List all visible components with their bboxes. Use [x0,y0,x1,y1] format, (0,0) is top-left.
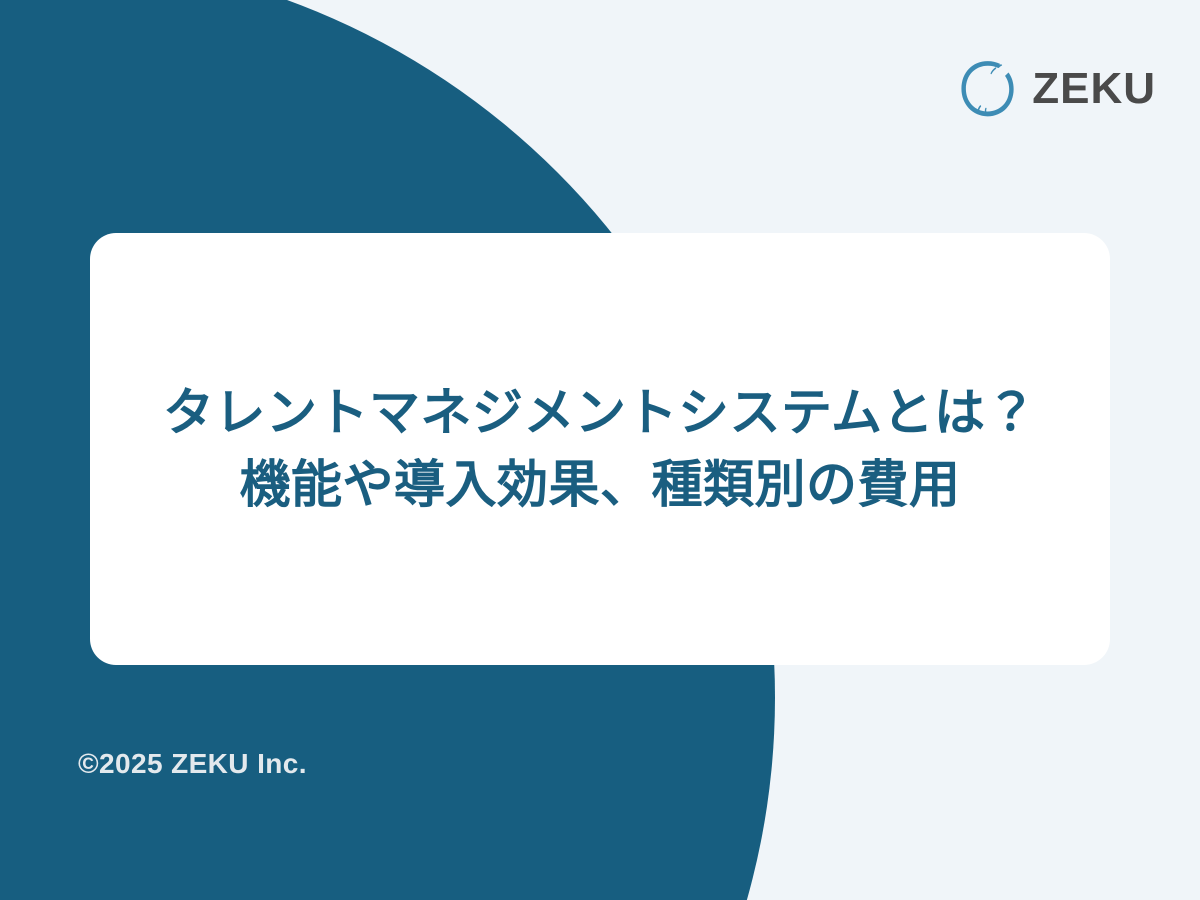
title-line-1: タレントマネジメントシステムとは？ [114,377,1086,449]
zeku-logo: ZEKU [956,58,1156,120]
title-line-2: 機能や導入効果、種類別の費用 [114,449,1086,521]
title-slide: ZEKU タレントマネジメントシステムとは？ 機能や導入効果、種類別の費用 ©2… [0,0,1200,900]
page-title: タレントマネジメントシステムとは？ 機能や導入効果、種類別の費用 [90,377,1110,522]
logo-wordmark: ZEKU [1032,67,1156,111]
title-card: タレントマネジメントシステムとは？ 機能や導入効果、種類別の費用 [90,233,1110,665]
enso-brush-circle-icon [956,58,1018,120]
copyright-text: ©2025 ZEKU Inc. [78,748,307,780]
